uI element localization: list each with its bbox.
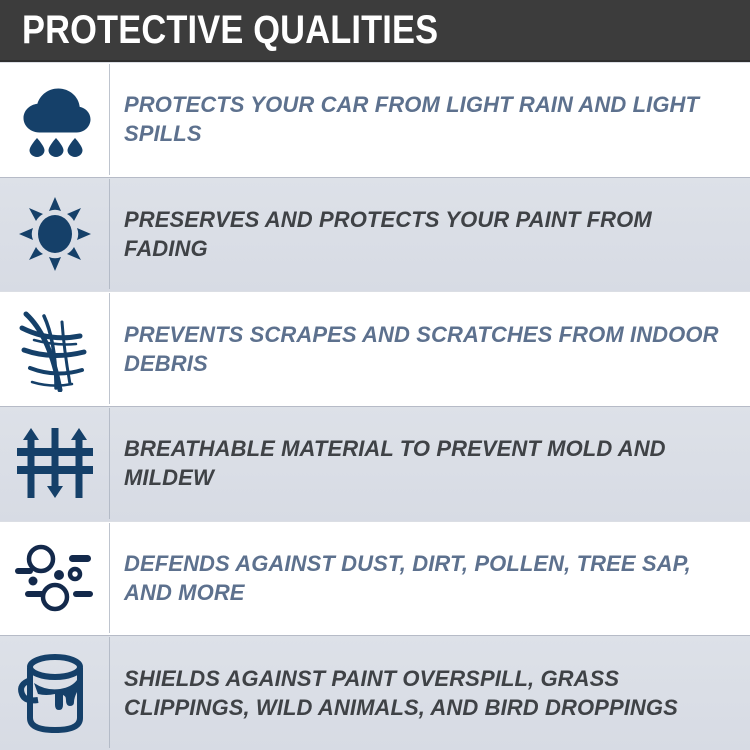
feature-row: SHIELDS AGAINST PAINT OVERSPILL, GRASS C… (0, 635, 750, 750)
protective-qualities-infographic: PROTECTIVE QUALITIES PROTECTS YOUR CAR F… (0, 0, 750, 750)
scratch-mesh-icon (16, 306, 94, 392)
feature-row: DEFENDS AGAINST DUST, DIRT, POLLEN, TREE… (0, 521, 750, 636)
text-cell: PRESERVES AND PROTECTS YOUR PAINT FROM F… (110, 177, 750, 292)
feature-text: PREVENTS SCRAPES AND SCRATCHES FROM INDO… (124, 320, 732, 378)
icon-cell (0, 635, 110, 750)
text-cell: BREATHABLE MATERIAL TO PREVENT MOLD AND … (110, 406, 750, 521)
header-bar: PROTECTIVE QUALITIES (0, 0, 750, 62)
icon-cell (0, 521, 110, 636)
text-cell: PROTECTS YOUR CAR FROM LIGHT RAIN AND LI… (110, 62, 750, 177)
icon-cell (0, 291, 110, 406)
text-cell: DEFENDS AGAINST DUST, DIRT, POLLEN, TREE… (110, 521, 750, 636)
feature-row: PREVENTS SCRAPES AND SCRATCHES FROM INDO… (0, 291, 750, 406)
icon-cell (0, 62, 110, 177)
feature-text: PROTECTS YOUR CAR FROM LIGHT RAIN AND LI… (124, 90, 732, 148)
paint-can-icon (16, 650, 94, 736)
feature-text: PRESERVES AND PROTECTS YOUR PAINT FROM F… (124, 205, 732, 263)
text-cell: SHIELDS AGAINST PAINT OVERSPILL, GRASS C… (110, 635, 750, 750)
feature-row: BREATHABLE MATERIAL TO PREVENT MOLD AND … (0, 406, 750, 521)
feature-row: PROTECTS YOUR CAR FROM LIGHT RAIN AND LI… (0, 62, 750, 177)
feature-row: PRESERVES AND PROTECTS YOUR PAINT FROM F… (0, 177, 750, 292)
text-cell: PREVENTS SCRAPES AND SCRATCHES FROM INDO… (110, 291, 750, 406)
dust-particles-icon (11, 541, 99, 615)
feature-text: BREATHABLE MATERIAL TO PREVENT MOLD AND … (124, 434, 732, 492)
feature-text: SHIELDS AGAINST PAINT OVERSPILL, GRASS C… (124, 664, 732, 722)
icon-cell (0, 406, 110, 521)
page-title: PROTECTIVE QUALITIES (22, 10, 438, 50)
feature-text: DEFENDS AGAINST DUST, DIRT, POLLEN, TREE… (124, 549, 732, 607)
icon-cell (0, 177, 110, 292)
breathable-airflow-icon (15, 422, 95, 504)
rain-cloud-icon (17, 80, 93, 158)
feature-list: PROTECTS YOUR CAR FROM LIGHT RAIN AND LI… (0, 62, 750, 750)
sun-icon (17, 195, 93, 273)
